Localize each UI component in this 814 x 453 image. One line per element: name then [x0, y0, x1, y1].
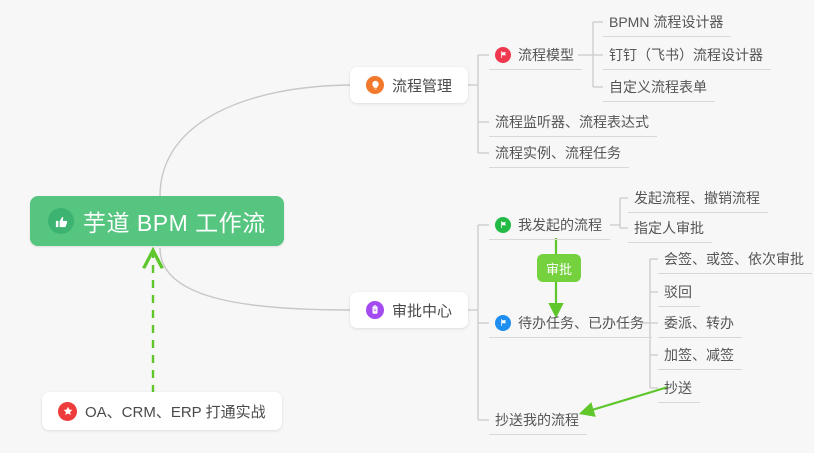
lightbulb-icon	[366, 76, 384, 94]
flag-icon	[495, 315, 511, 331]
approval-badge: 审批	[537, 254, 581, 282]
integration-note-label: OA、CRM、ERP 打通实战	[85, 401, 266, 422]
node-carbon-copy[interactable]: 抄送	[658, 373, 700, 403]
node-bpmn-designer[interactable]: BPMN 流程设计器	[603, 7, 731, 37]
flag-icon	[495, 217, 511, 233]
approval-badge-label: 审批	[546, 259, 572, 278]
node-label: 指定人审批	[634, 218, 704, 238]
root-label: 芋道 BPM 工作流	[83, 204, 266, 238]
node-label: 流程监听器、流程表达式	[495, 112, 649, 132]
node-label: 驳回	[664, 282, 692, 302]
node-label: 抄送我的流程	[495, 410, 579, 430]
thumbs-up-icon	[48, 208, 74, 234]
branch-node-process-management[interactable]: 流程管理	[350, 67, 468, 103]
root-node[interactable]: 芋道 BPM 工作流	[30, 196, 284, 246]
node-label: 委派、转办	[664, 313, 734, 333]
node-delegate-transfer[interactable]: 委派、转办	[658, 308, 742, 338]
node-custom-form[interactable]: 自定义流程表单	[603, 72, 715, 102]
arrow-chaosong-to-chaosongwode	[582, 387, 668, 413]
node-my-initiated-processes[interactable]: 我发起的流程	[489, 210, 610, 240]
node-label: BPMN 流程设计器	[609, 12, 723, 32]
edge-wofaqi-trunk	[610, 198, 620, 228]
mindmap-canvas: 芋道 BPM 工作流 流程管理 流程模型 BPMN 流程设计器 钉钉（飞书）流程…	[0, 0, 814, 453]
node-process-listener[interactable]: 流程监听器、流程表达式	[489, 107, 657, 137]
branch-label: 流程管理	[392, 75, 452, 96]
node-label: 流程模型	[518, 45, 574, 65]
node-label: 我发起的流程	[518, 215, 602, 235]
node-label: 待办任务、已办任务	[518, 313, 644, 333]
node-cc-to-me-processes[interactable]: 抄送我的流程	[489, 405, 587, 435]
clipboard-icon	[366, 301, 384, 319]
node-label: 发起流程、撤销流程	[634, 188, 760, 208]
flag-icon	[495, 47, 511, 63]
branch-node-approval-center[interactable]: 审批中心	[350, 292, 468, 328]
branch-label: 审批中心	[392, 300, 452, 321]
edge-root-to-liuchengguanli	[160, 85, 350, 196]
node-process-model[interactable]: 流程模型	[489, 40, 582, 70]
node-designated-approver[interactable]: 指定人审批	[628, 213, 712, 243]
node-add-remove-sign[interactable]: 加签、减签	[658, 340, 742, 370]
node-countersign[interactable]: 会签、或签、依次审批	[658, 244, 812, 274]
node-process-instance[interactable]: 流程实例、流程任务	[489, 138, 629, 168]
star-icon	[58, 402, 77, 421]
integration-note-node[interactable]: OA、CRM、ERP 打通实战	[42, 392, 282, 430]
node-todo-done-tasks[interactable]: 待办任务、已办任务	[489, 308, 652, 338]
node-label: 加签、减签	[664, 345, 734, 365]
node-dingtalk-designer[interactable]: 钉钉（飞书）流程设计器	[603, 40, 771, 70]
edge-root-to-shenpizhongxin	[160, 248, 350, 310]
node-label: 自定义流程表单	[609, 77, 707, 97]
node-start-cancel-process[interactable]: 发起流程、撤销流程	[628, 183, 768, 213]
node-label: 抄送	[664, 378, 692, 398]
node-label: 钉钉（飞书）流程设计器	[609, 45, 763, 65]
node-label: 会签、或签、依次审批	[664, 249, 804, 269]
node-reject[interactable]: 驳回	[658, 277, 700, 307]
node-label: 流程实例、流程任务	[495, 143, 621, 163]
